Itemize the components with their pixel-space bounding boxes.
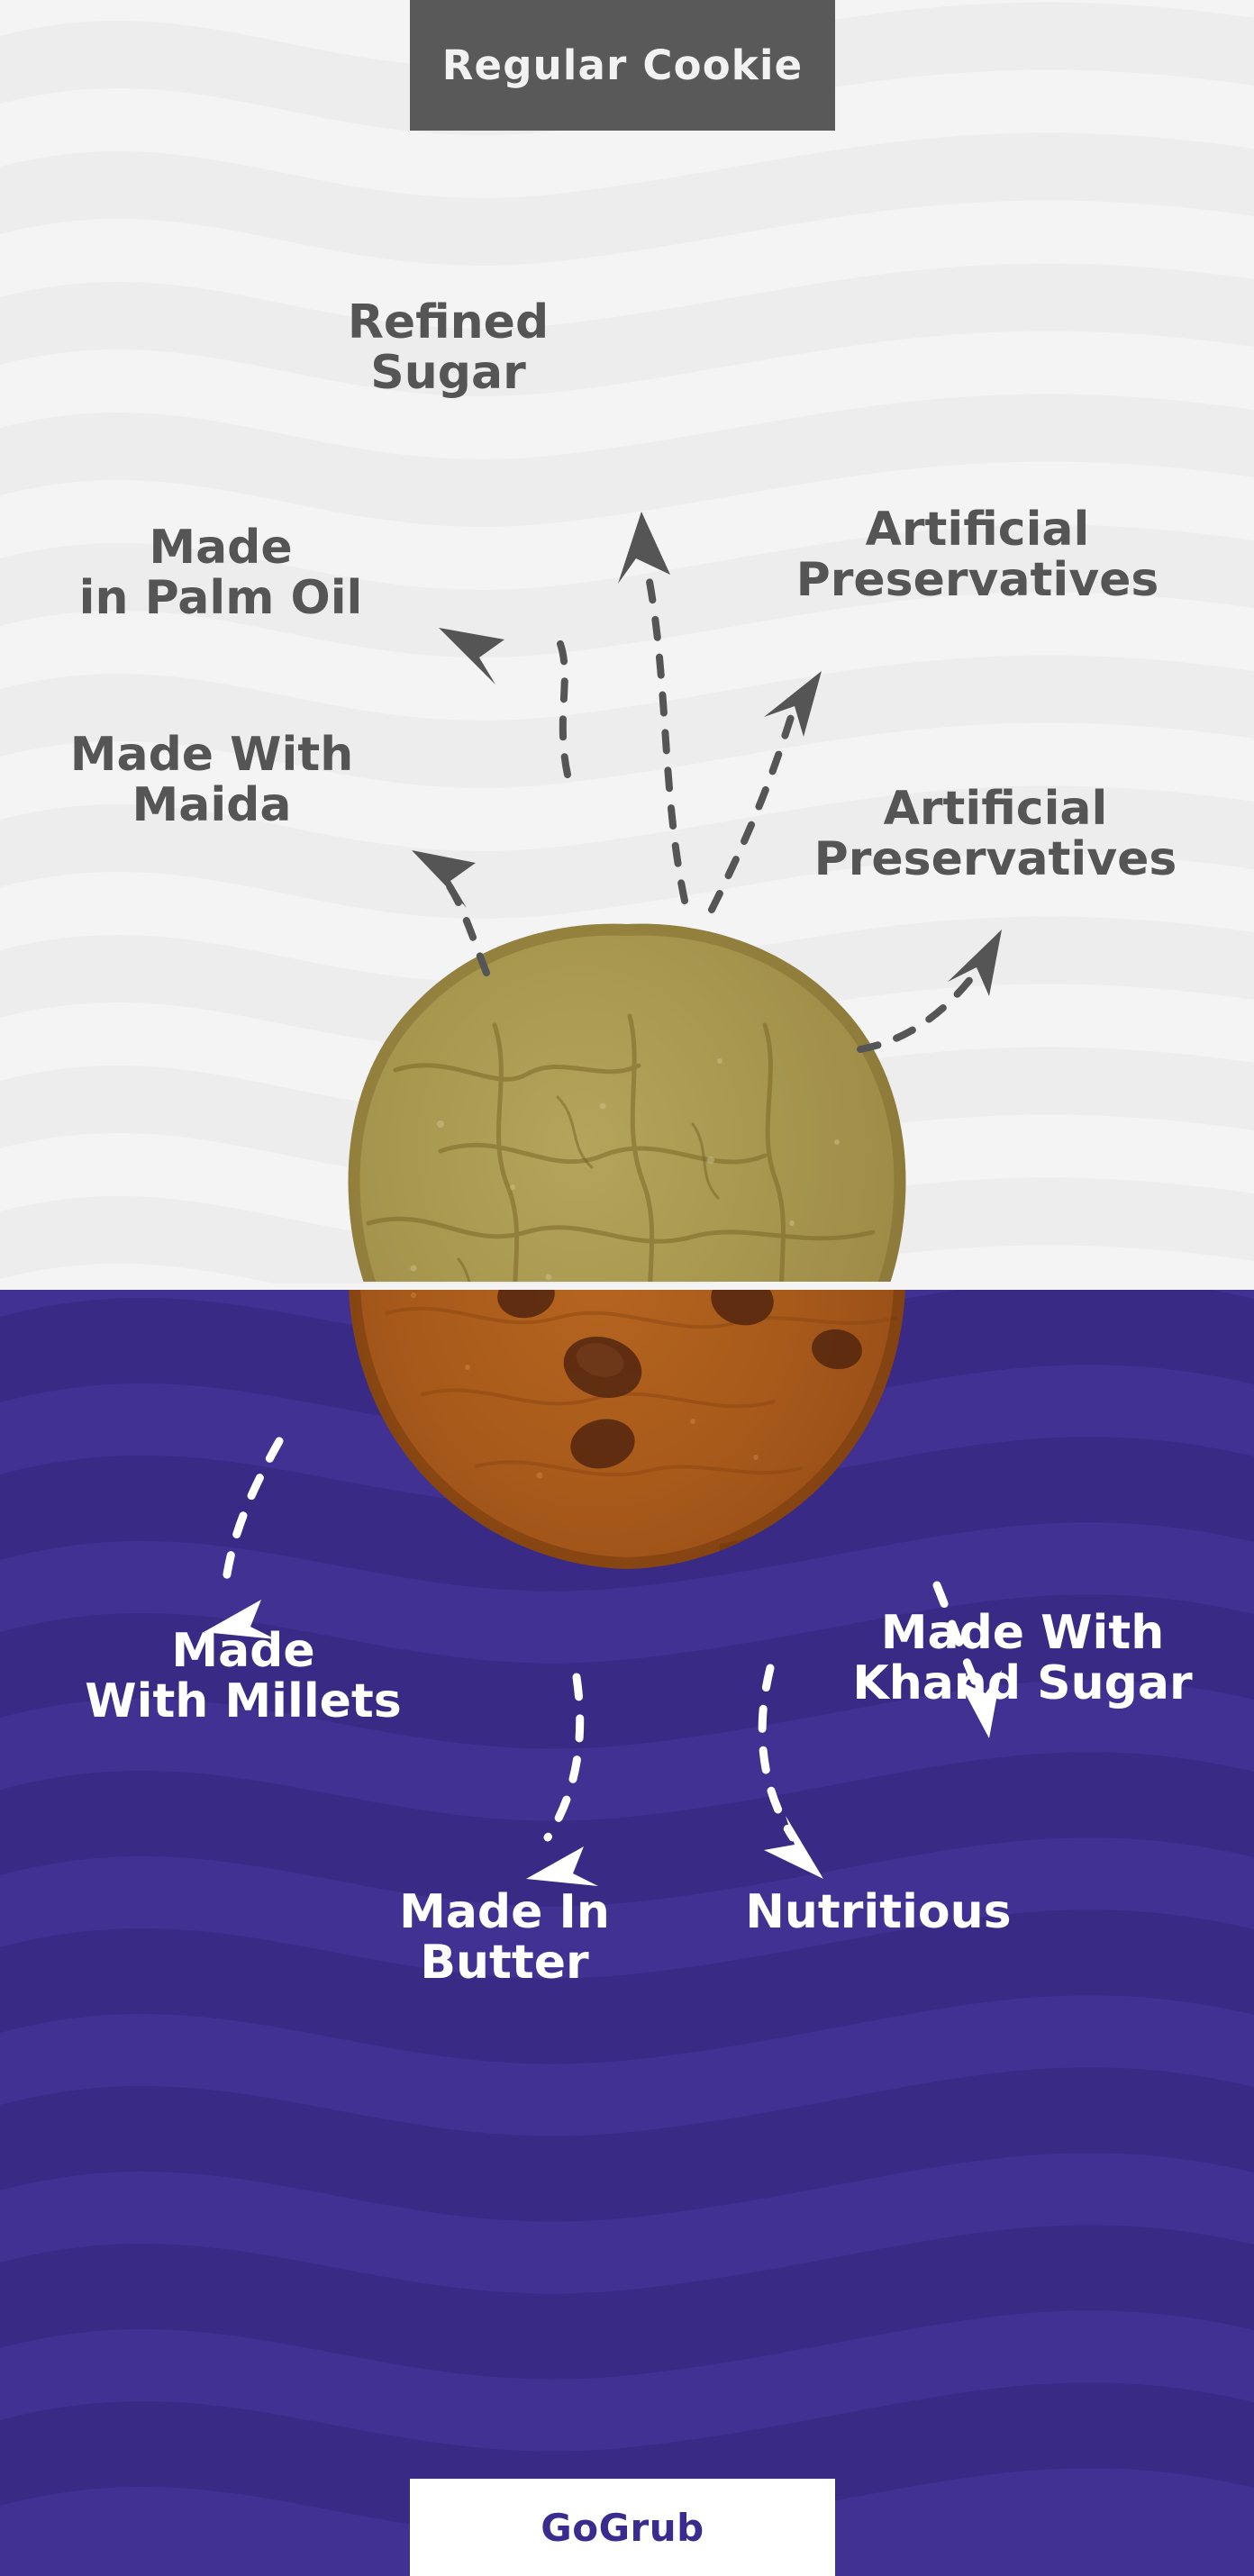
footer-logo-panel: GoGrub	[410, 2479, 835, 2576]
label-made-with-khand-sugar: Made With Khand Sugar	[811, 1608, 1234, 1709]
label-artificial-preservatives-2: Artificial Preservatives	[779, 784, 1212, 884]
label-made-in-butter: Made In Butter	[315, 1887, 694, 1988]
cookie-top-half	[332, 917, 922, 1282]
label-nutritious: Nutritious	[694, 1887, 1063, 1937]
infographic-poster: Regular Cookie	[0, 0, 1254, 2576]
cookie-bottom-half	[332, 1290, 922, 1574]
cookie-image	[332, 917, 922, 1574]
header-badge-label: Regular Cookie	[442, 41, 804, 89]
gogrub-logo-text: GoGrub	[541, 2506, 704, 2550]
label-made-with-maida: Made With Maida	[9, 730, 414, 830]
label-made-in-palm-oil: Made in Palm Oil	[23, 522, 419, 623]
label-refined-sugar: Refined Sugar	[221, 297, 676, 398]
header-badge: Regular Cookie	[410, 0, 835, 131]
label-artificial-preservatives-1: Artificial Preservatives	[761, 504, 1194, 605]
label-made-with-millets: Made With Millets	[32, 1626, 455, 1727]
